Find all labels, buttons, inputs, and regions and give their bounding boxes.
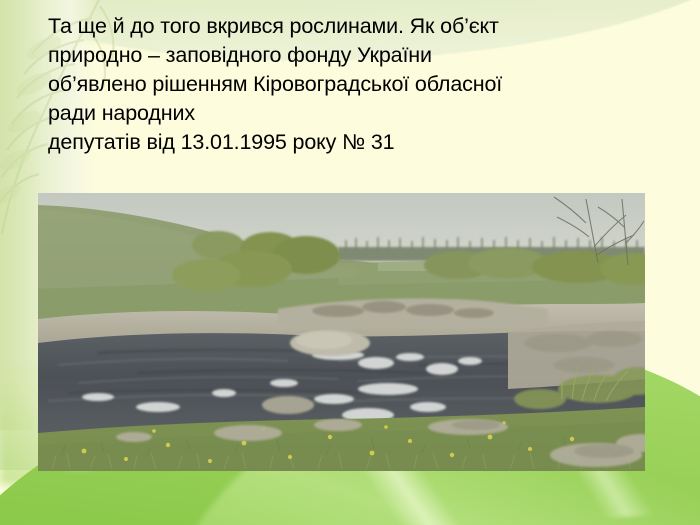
text-line: депутатів від 13.01.1995 року № 31 [48,128,663,157]
text-line: об’явлено рішенням Кіровоградської облас… [48,70,663,99]
text-line: ради народних [48,99,663,128]
text-line: Та ще й до того вкрився рослинами. Як об… [48,12,663,41]
slide-text-block: Та ще й до того вкрився рослинами. Як об… [48,12,663,157]
landscape-photo [38,193,645,471]
slide-canvas: Та ще й до того вкрився рослинами. Як об… [0,0,700,525]
text-line: природно – заповідного фонду України [48,41,663,70]
